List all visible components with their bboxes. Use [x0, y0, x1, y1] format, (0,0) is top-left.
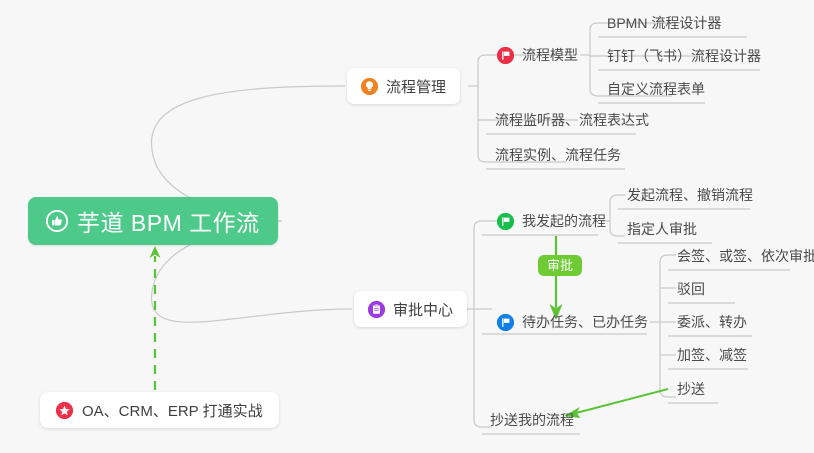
leaf-label: BPMN 流程设计器: [607, 16, 721, 30]
node-label: 流程模型: [522, 48, 578, 62]
annotation-approval: 审批: [538, 255, 582, 276]
annotation-label: 审批: [547, 258, 573, 273]
leaf-label: 加签、减签: [677, 348, 747, 362]
leaf-custom-form[interactable]: 自定义流程表单: [600, 75, 713, 103]
leaf-process-instance[interactable]: 流程实例、流程任务: [488, 141, 629, 169]
leaf-delegate-transfer[interactable]: 委派、转办: [670, 308, 755, 336]
branch-label: 审批中心: [393, 299, 453, 320]
leaf-start-cancel-process[interactable]: 发起流程、撤销流程: [620, 181, 761, 209]
leaf-label: 发起流程、撤销流程: [627, 188, 753, 202]
root-node[interactable]: 芋道 BPM 工作流: [28, 197, 278, 245]
leaf-dingtalk-designer[interactable]: 钉钉（飞书）流程设计器: [600, 42, 769, 70]
leaf-label: 抄送: [677, 382, 705, 396]
leaf-assignee-approval[interactable]: 指定人审批: [620, 215, 705, 243]
leaf-label: 流程监听器、流程表达式: [495, 113, 649, 127]
leaf-label: 抄送我的流程: [490, 413, 574, 427]
branch-approval-center[interactable]: 审批中心: [354, 291, 467, 327]
leaf-label: 流程实例、流程任务: [495, 148, 621, 162]
leaf-label: 指定人审批: [627, 222, 697, 236]
thumbs-up-icon: [46, 210, 68, 232]
node-my-initiated[interactable]: 我发起的流程: [490, 207, 614, 235]
leaf-process-listener[interactable]: 流程监听器、流程表达式: [488, 106, 657, 134]
leaf-countersign[interactable]: 会签、或签、依次审批: [670, 242, 814, 270]
lightbulb-icon: [361, 78, 378, 95]
flag-icon: [497, 213, 514, 230]
flag-icon: [497, 47, 514, 64]
clipboard-icon: [368, 301, 385, 318]
node-todo-done-tasks[interactable]: 待办任务、已办任务: [490, 308, 656, 336]
branch-label: 流程管理: [386, 76, 446, 97]
note-label: OA、CRM、ERP 打通实战: [82, 400, 263, 421]
leaf-label: 自定义流程表单: [607, 82, 705, 96]
mindmap-canvas: 芋道 BPM 工作流 流程管理 流程模型 BPMN 流程设计器 钉钉（飞书）流程…: [0, 0, 814, 453]
node-label: 待办任务、已办任务: [522, 315, 648, 329]
leaf-label: 委派、转办: [677, 315, 747, 329]
leaf-label: 驳回: [677, 282, 705, 296]
star-icon: [56, 402, 73, 419]
branch-process-management[interactable]: 流程管理: [347, 68, 460, 104]
leaf-reject[interactable]: 驳回: [670, 275, 713, 303]
note-to-root-arrow: [150, 246, 161, 390]
leaf-label: 会签、或签、依次审批: [677, 249, 814, 263]
node-process-model[interactable]: 流程模型: [490, 41, 586, 69]
note-integration[interactable]: OA、CRM、ERP 打通实战: [40, 392, 279, 428]
leaf-bpmn-designer[interactable]: BPMN 流程设计器: [600, 9, 729, 37]
root-label: 芋道 BPM 工作流: [77, 204, 260, 238]
leaf-cc[interactable]: 抄送: [670, 375, 713, 403]
node-label: 我发起的流程: [522, 214, 606, 228]
leaf-label: 钉钉（飞书）流程设计器: [607, 49, 761, 63]
leaf-cc-to-me[interactable]: 抄送我的流程: [483, 406, 582, 434]
flag-icon: [497, 314, 514, 331]
leaf-add-remove-sign[interactable]: 加签、减签: [670, 341, 755, 369]
